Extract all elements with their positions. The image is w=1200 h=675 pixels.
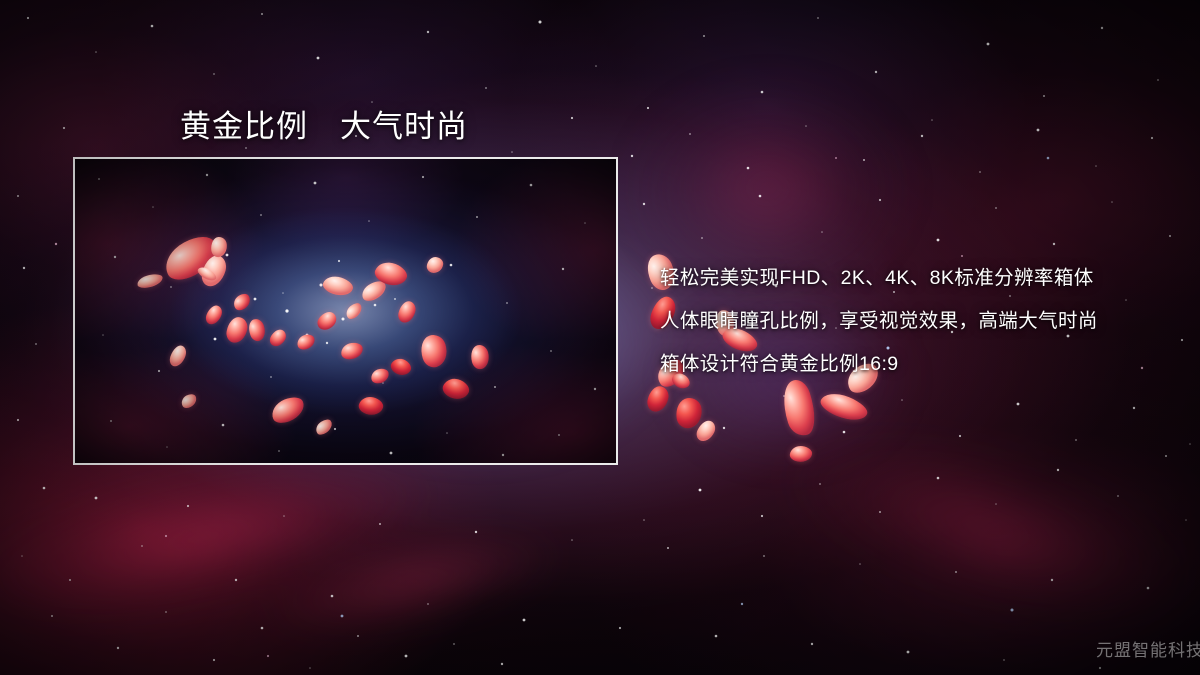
body-text-block: 轻松完美实现FHD、2K、4K、8K标准分辨率箱体 人体眼睛瞳孔比例，享受视觉效… [660, 257, 1160, 386]
page-title: 黄金比例 大气时尚 [180, 101, 468, 146]
presentation-slide: 黄金比例 大气时尚 轻松完美实现FHD、2K、4K、8K标准分辨率箱体 人体眼睛… [0, 0, 1200, 675]
frame-vignette [75, 159, 616, 463]
body-line-1: 轻松完美实现FHD、2K、4K、8K标准分辨率箱体 [660, 257, 1160, 300]
body-line-2: 人体眼睛瞳孔比例，享受视觉效果，高端大气时尚 [660, 300, 1160, 343]
body-line-3: 箱体设计符合黄金比例16:9 [660, 343, 1160, 386]
watermark: 元盟智能科技 [1096, 636, 1200, 661]
photo-frame-16-9 [73, 157, 618, 465]
